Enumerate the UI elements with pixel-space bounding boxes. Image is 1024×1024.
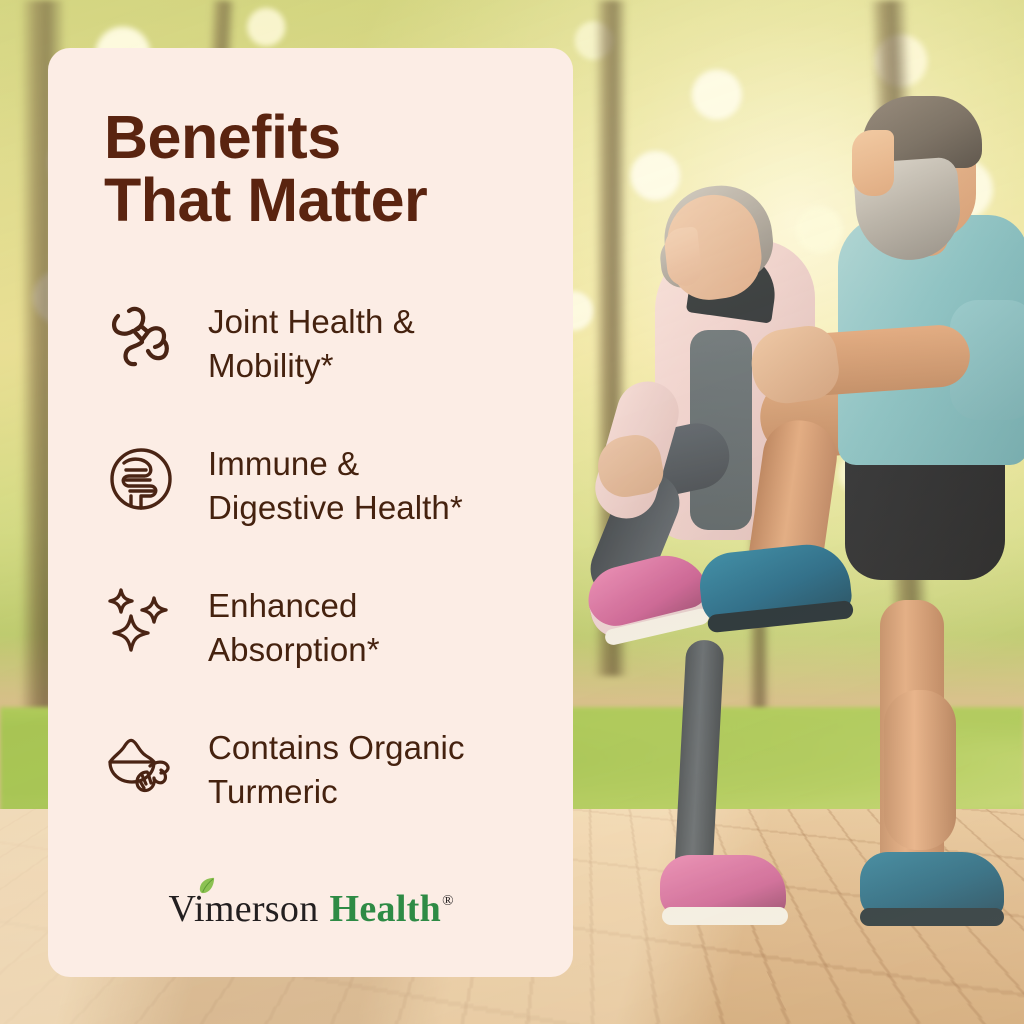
joint-icon: [104, 300, 178, 374]
leaf-icon: [197, 876, 216, 895]
benefit-label: Joint Health & Mobility*: [208, 298, 415, 388]
logo-word-one: Vimerson: [169, 887, 319, 931]
benefits-list: Joint Health & Mobility* Immune & Digest…: [104, 298, 527, 820]
registered-mark: ®: [442, 893, 453, 910]
benefit-item-enhanced-absorption: Enhanced Absorption*: [104, 582, 527, 678]
intestine-icon: [104, 442, 178, 516]
benefit-item-organic-turmeric: Contains Organic Turmeric: [104, 724, 527, 820]
sparkles-icon: [104, 584, 178, 658]
logo-word-two: Health: [330, 887, 442, 931]
turmeric-icon: [104, 726, 178, 800]
benefit-item-immune-digestive: Immune & Digestive Health*: [104, 440, 527, 536]
benefit-item-joint-health: Joint Health & Mobility*: [104, 298, 527, 394]
brand-logo: Vimerson Health ®: [48, 887, 573, 931]
benefit-label: Enhanced Absorption*: [208, 582, 380, 672]
benefit-label: Contains Organic Turmeric: [208, 724, 465, 814]
woman-shoe: [660, 855, 786, 917]
page-title: Benefits That Matter: [104, 106, 527, 232]
benefit-label: Immune & Digestive Health*: [208, 440, 463, 530]
benefits-card: Benefits That Matter Joint Health & Mobi…: [48, 48, 573, 977]
man-shoe: [860, 852, 1004, 918]
